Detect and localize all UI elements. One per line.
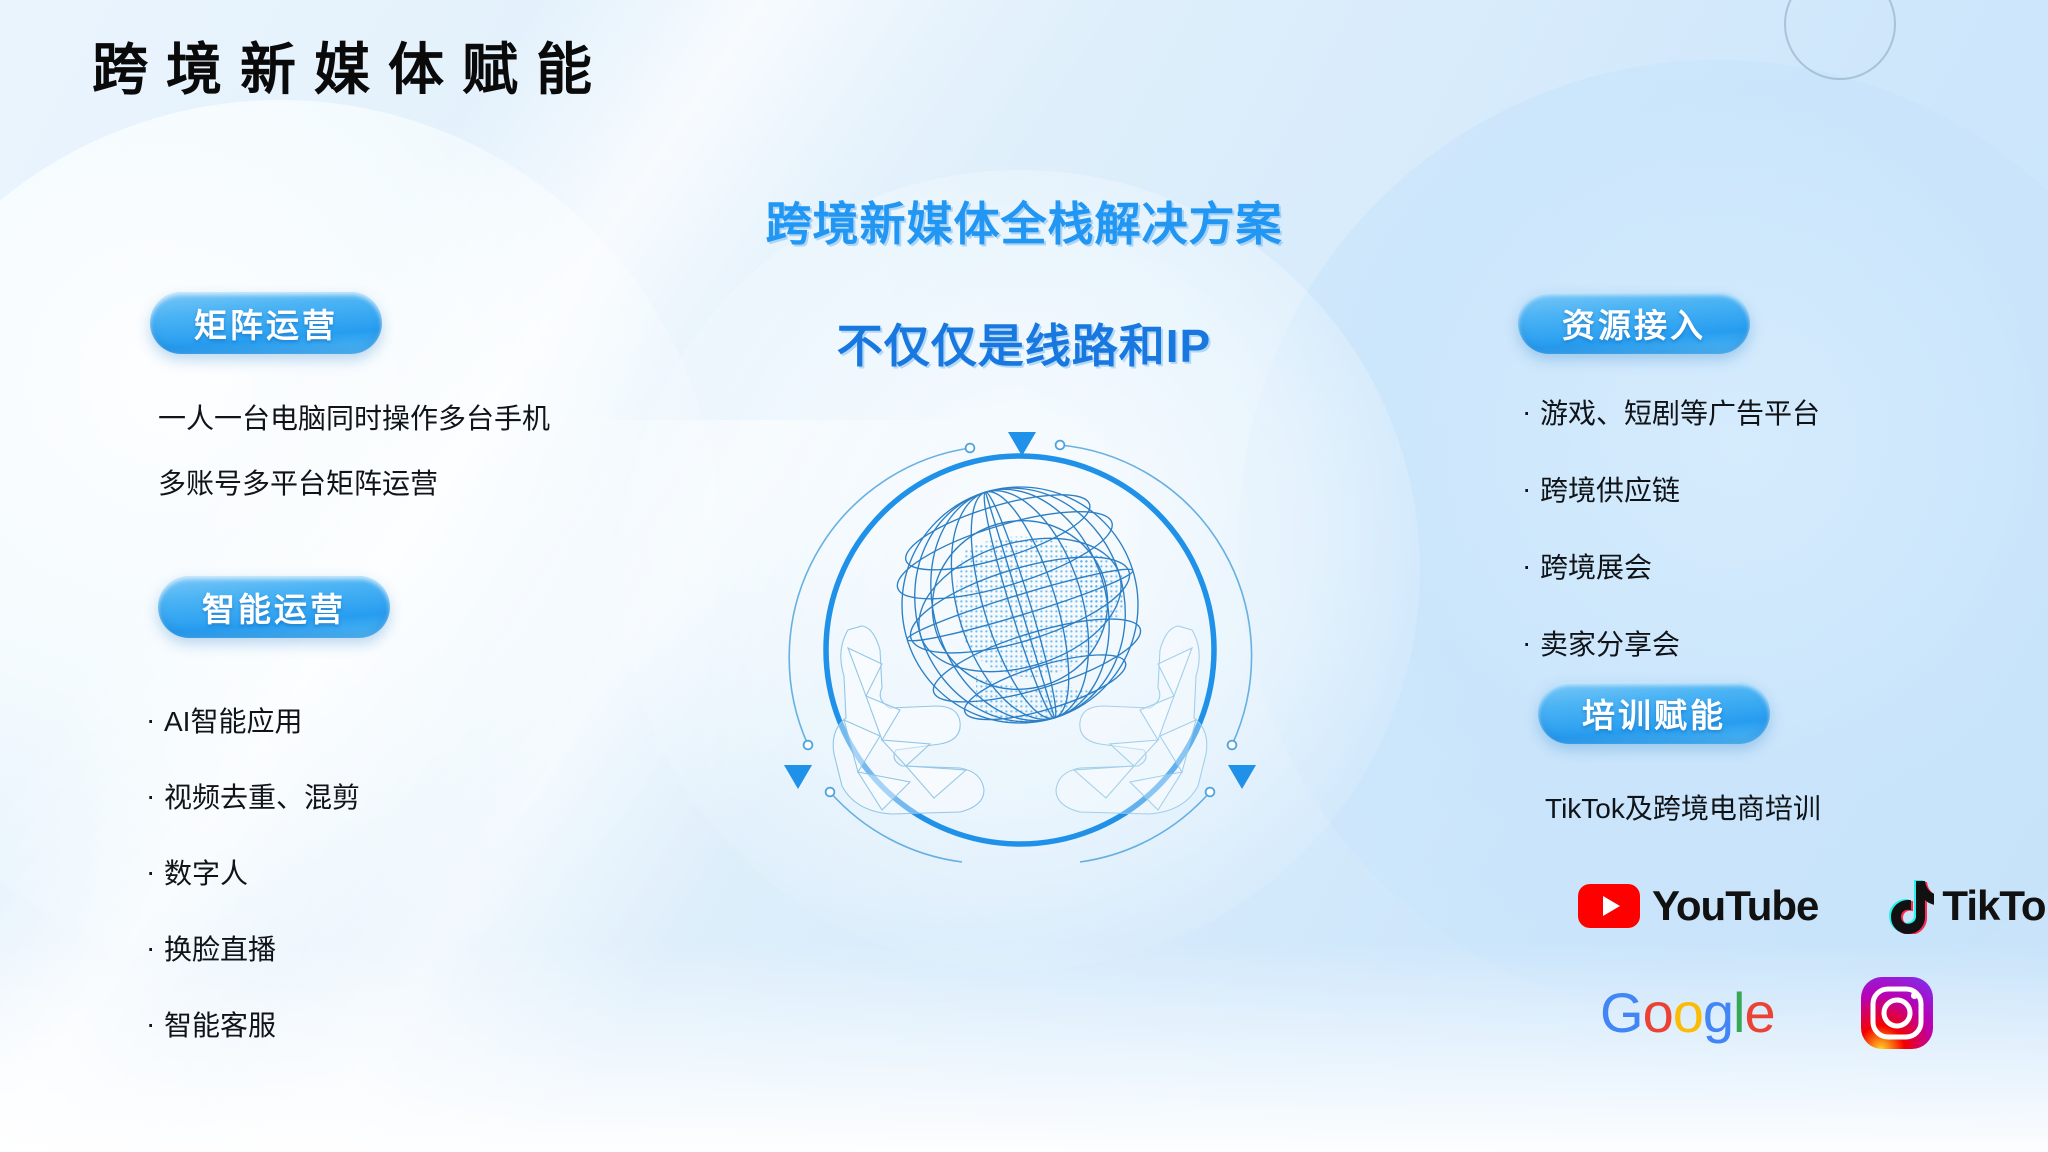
google-letter-6: e <box>1744 981 1774 1044</box>
bullet-marker-icon: · <box>146 856 164 888</box>
list-item-label: 卖家分享会 <box>1540 623 1680 663</box>
pill-resource-access[interactable]: 资源接入 <box>1518 292 1750 354</box>
list-item: · 换脸直播 <box>146 928 360 968</box>
list-item-label: AI智能应用 <box>164 700 302 740</box>
list-item-label: 数字人 <box>164 852 248 892</box>
brand-logos-row-1: YouTube TikTok <box>1578 878 2048 934</box>
pill-smart-operations[interactable]: 智能运营 <box>158 576 390 638</box>
center-headline-primary: 跨境新媒体全栈解决方案 <box>0 188 2048 254</box>
list-item: · 卖家分享会 <box>1522 623 1820 663</box>
list-item-label: 跨境展会 <box>1540 546 1652 586</box>
bullet-marker-icon: · <box>1522 396 1540 428</box>
list-item: · 智能客服 <box>146 1004 360 1044</box>
list-item: · 视频去重、混剪 <box>146 776 360 816</box>
list-item-label: 视频去重、混剪 <box>164 776 360 816</box>
youtube-play-icon <box>1578 884 1640 928</box>
list-item: · 跨境供应链 <box>1522 469 1820 509</box>
list-item-label: 换脸直播 <box>164 928 276 968</box>
training-description: TikTok及跨境电商培训 <box>1545 795 1821 823</box>
decor-outline-circle-icon <box>1784 0 1896 80</box>
smart-operations-bullets: · AI智能应用 · 视频去重、混剪 · 数字人 · 换脸直播 · 智能客服 <box>146 700 360 1044</box>
resource-access-bullets: · 游戏、短剧等广告平台 · 跨境供应链 · 跨境展会 · 卖家分享会 <box>1522 392 1820 663</box>
matrix-operations-line-2: 多账号多平台矩阵运营 <box>158 470 438 498</box>
pill-training-empowerment[interactable]: 培训赋能 <box>1538 682 1770 744</box>
bullet-marker-icon: · <box>1522 473 1540 505</box>
youtube-logo: YouTube <box>1578 882 1818 930</box>
brand-logos-row-2: Google <box>1600 975 1935 1051</box>
list-item: · 跨境展会 <box>1522 546 1820 586</box>
google-letter-1: G <box>1600 981 1643 1044</box>
list-item: · 数字人 <box>146 852 360 892</box>
list-item: · 游戏、短剧等广告平台 <box>1522 392 1820 432</box>
youtube-label: YouTube <box>1652 882 1818 930</box>
list-item-label: 游戏、短剧等广告平台 <box>1540 392 1820 432</box>
pill-matrix-operations[interactable]: 矩阵运营 <box>150 292 382 354</box>
globe-in-hands-illustration <box>770 400 1270 870</box>
matrix-operations-line-1: 一人一台电脑同时操作多台手机 <box>158 405 550 433</box>
tiktok-note-icon <box>1884 878 1934 934</box>
list-item-label: 智能客服 <box>164 1004 276 1044</box>
google-letter-3: o <box>1673 981 1703 1044</box>
list-item: · AI智能应用 <box>146 700 360 740</box>
bullet-marker-icon: · <box>1522 550 1540 582</box>
list-item-label: 跨境供应链 <box>1540 469 1680 509</box>
bullet-marker-icon: · <box>146 704 164 736</box>
instagram-camera-icon <box>1859 975 1935 1051</box>
slide-canvas: 跨境新媒体赋能 跨境新媒体全栈解决方案 不仅仅是线路和IP <box>0 0 2048 1152</box>
bullet-marker-icon: · <box>146 780 164 812</box>
tiktok-label: TikTok <box>1942 882 2048 930</box>
bullet-marker-icon: · <box>146 1008 164 1040</box>
google-letter-4: g <box>1703 981 1733 1044</box>
bullet-marker-icon: · <box>146 932 164 964</box>
google-letter-2: o <box>1643 981 1673 1044</box>
google-letter-5: l <box>1733 981 1744 1044</box>
tiktok-logo: TikTok <box>1884 878 2048 934</box>
page-title: 跨境新媒体赋能 <box>92 36 610 103</box>
bullet-marker-icon: · <box>1522 627 1540 659</box>
google-logo: Google <box>1600 985 1775 1041</box>
instagram-logo <box>1859 975 1935 1051</box>
